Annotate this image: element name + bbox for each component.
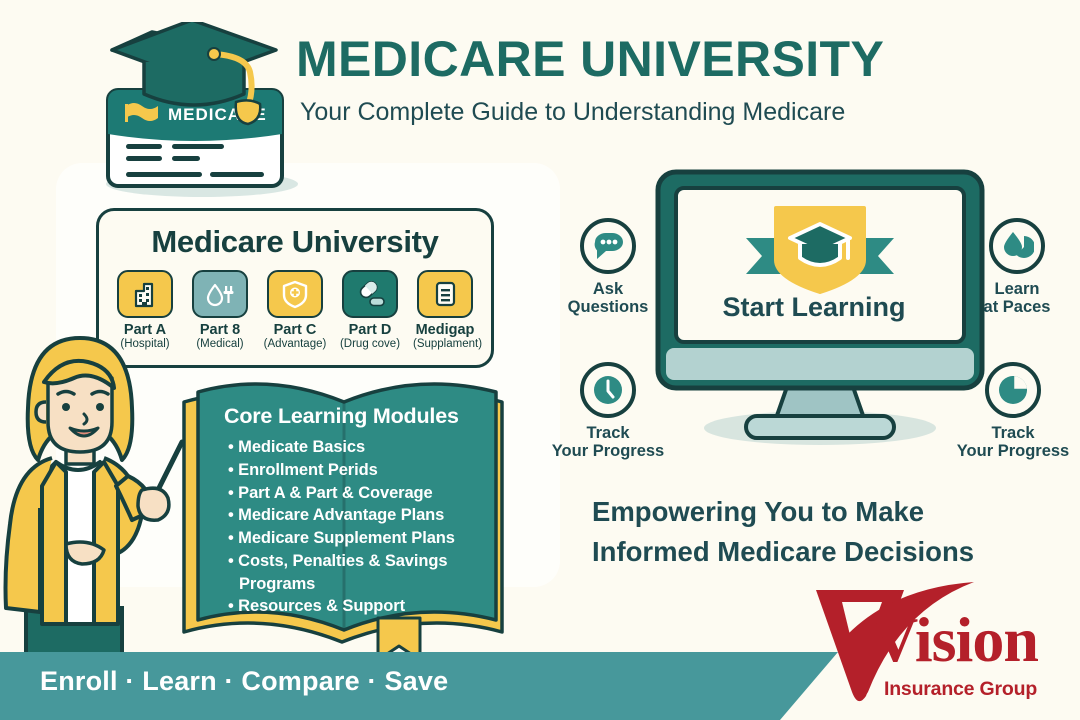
document-icon [417,270,473,318]
chat-bubble-icon [580,218,636,274]
feature-track-progress-left[interactable]: Track Your Progress [543,362,673,461]
part-item-medigap[interactable]: Medigap (Supplament) [413,270,477,350]
part-sublabel: (Drug cove) [338,338,402,350]
logo-wordmark: Vision [872,608,1038,672]
feature-track-progress-right[interactable]: Track Your Progress [948,362,1078,461]
part-label: Part D [338,323,402,338]
graduation-cap-badge-icon [776,208,864,292]
parts-card-title: Medicare University [99,224,491,260]
core-learning-modules-panel: Core Learning Modules Medicate Basics En… [206,404,488,618]
bottom-bar-text: Enroll · Learn · Compare · Save [40,666,448,697]
start-learning-label[interactable]: Start Learning [652,292,976,323]
droplet-pie-icon [989,218,1045,274]
list-item[interactable]: Medicare Advantage Plans [228,504,488,527]
pie-chart-icon [985,362,1041,418]
clock-icon [580,362,636,418]
part-sublabel: (Supplament) [413,338,477,350]
stethoscope-icon [192,270,248,318]
modules-list: Medicate Basics Enrollment Perids Part A… [228,436,488,618]
page-subtitle: Your Complete Guide to Understanding Med… [300,98,845,127]
feature-label: Learn at Paces [952,280,1080,317]
list-item[interactable]: Part A & Part & Coverage [228,482,488,505]
feature-learn-at-paces[interactable]: Learn at Paces [952,218,1080,317]
infographic-canvas: MEDICARE MEDICARE UNIVE [0,0,1080,720]
hospital-icon [117,270,173,318]
pill-capsule-icon [342,270,398,318]
feature-ask-questions[interactable]: Ask Questions [543,218,673,317]
teacher-with-pointer-illustration [0,322,230,678]
list-item[interactable]: Costs, Penalties & Savings Programs [228,550,488,596]
feature-label: Ask Questions [543,280,673,317]
logo-subtitle: Insurance Group [884,678,1037,701]
part-sublabel: (Advantage) [263,338,327,350]
list-item[interactable]: Resources & Support [228,595,488,618]
tagline: Empowering You to Make Informed Medicare… [592,492,974,572]
modules-heading: Core Learning Modules [224,404,488,429]
feature-label: Track Your Progress [948,424,1078,461]
part-label: Medigap [413,323,477,338]
list-item[interactable]: Medicate Basics [228,436,488,459]
feature-label: Track Your Progress [543,424,673,461]
list-item[interactable]: Medicare Supplement Plans [228,527,488,550]
shield-plus-icon [267,270,323,318]
part-item-d[interactable]: Part D (Drug cove) [338,270,402,350]
medicare-card-with-cap-illustration: MEDICARE [86,22,302,198]
part-label: Part C [263,323,327,338]
part-item-c[interactable]: Part C (Advantage) [263,270,327,350]
list-item[interactable]: Enrollment Perids [228,459,488,482]
page-title: MEDICARE UNIVERSITY [296,34,884,84]
